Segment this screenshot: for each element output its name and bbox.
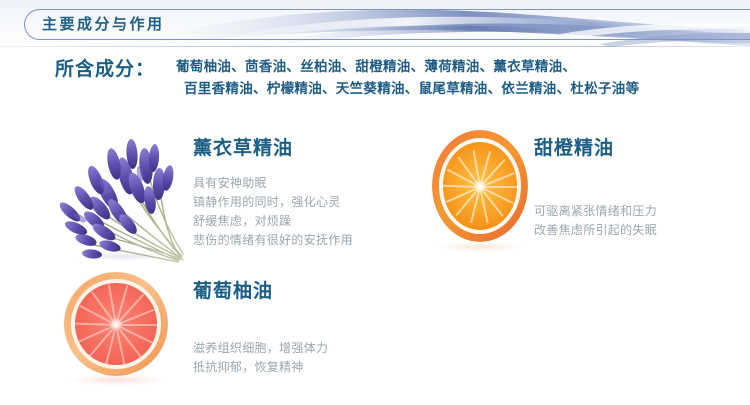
product-desc-orange: 可驱离紧张情绪和压力 改善焦虑所引起的失眠 bbox=[534, 202, 657, 240]
orange-shadow bbox=[438, 242, 524, 252]
grapefruit-half-photo bbox=[62, 272, 172, 380]
orange-slice bbox=[432, 130, 528, 242]
desc-line: 改善焦虑所引起的失眠 bbox=[534, 221, 657, 240]
desc-line: 抵抗抑郁，恢复精神 bbox=[193, 358, 328, 377]
desc-line: 具有安神助眠 bbox=[193, 174, 353, 193]
desc-line: 镇静作用的同时，强化心灵 bbox=[193, 193, 353, 212]
ingredients-line-2: 百里香精油、柠檬精油、天竺葵精油、鼠尾草精油、依兰精油、杜松子油等 bbox=[176, 78, 742, 100]
ingredients-label: 所含成分： bbox=[55, 54, 155, 81]
product-title-grapefruit: 葡萄柚油 bbox=[193, 276, 328, 303]
lavender-shadow bbox=[78, 252, 168, 261]
product-grapefruit: 葡萄柚油 滋养组织细胞，增强体力 抵抗抑郁，恢复精神 bbox=[193, 276, 328, 377]
page-title: 主要成分与作用 bbox=[42, 13, 165, 34]
desc-line: 滋养组织细胞，增强体力 bbox=[193, 339, 328, 358]
ingredients-line-1: 葡萄柚油、茴香油、丝柏油、甜橙精油、薄荷精油、薰衣草精油、 bbox=[176, 56, 742, 78]
lavender-illustration bbox=[40, 120, 190, 265]
product-lavender: 薰衣草精油 具有安神助眠 镇静作用的同时，强化心灵 舒缓焦虑，对烦躁 悲伤的情绪… bbox=[193, 133, 353, 250]
orange-half-photo bbox=[430, 128, 530, 246]
product-title-orange: 甜橙精油 bbox=[534, 133, 657, 160]
grapefruit-slice bbox=[64, 272, 168, 376]
desc-line: 可驱离紧张情绪和压力 bbox=[534, 202, 657, 221]
orange-flesh bbox=[443, 142, 518, 229]
product-desc-grapefruit: 滋养组织细胞，增强体力 抵抗抑郁，恢复精神 bbox=[193, 339, 328, 377]
orange-core bbox=[474, 179, 486, 193]
ingredients-section: 所含成分： 葡萄柚油、茴香油、丝柏油、甜橙精油、薄荷精油、薰衣草精油、 百里香精… bbox=[0, 52, 750, 104]
product-orange: 甜橙精油 可驱离紧张情绪和压力 改善焦虑所引起的失眠 bbox=[534, 133, 657, 240]
grapefruit-flesh bbox=[75, 283, 156, 364]
header-banner: 主要成分与作用 bbox=[0, 0, 750, 48]
header-divider bbox=[0, 46, 750, 47]
product-desc-lavender: 具有安神助眠 镇静作用的同时，强化心灵 舒缓焦虑，对烦躁 悲伤的情绪有很好的安抚… bbox=[193, 174, 353, 250]
desc-line: 舒缓焦虑，对烦躁 bbox=[193, 212, 353, 231]
grapefruit-core bbox=[110, 318, 123, 331]
desc-line: 悲伤的情绪有很好的安抚作用 bbox=[193, 231, 353, 250]
lavender-bouquet-photo bbox=[40, 120, 190, 265]
product-title-lavender: 薰衣草精油 bbox=[193, 133, 353, 160]
ingredients-list: 葡萄柚油、茴香油、丝柏油、甜橙精油、薄荷精油、薰衣草精油、 百里香精油、柠檬精油… bbox=[176, 56, 742, 100]
grapefruit-shadow bbox=[70, 374, 164, 386]
